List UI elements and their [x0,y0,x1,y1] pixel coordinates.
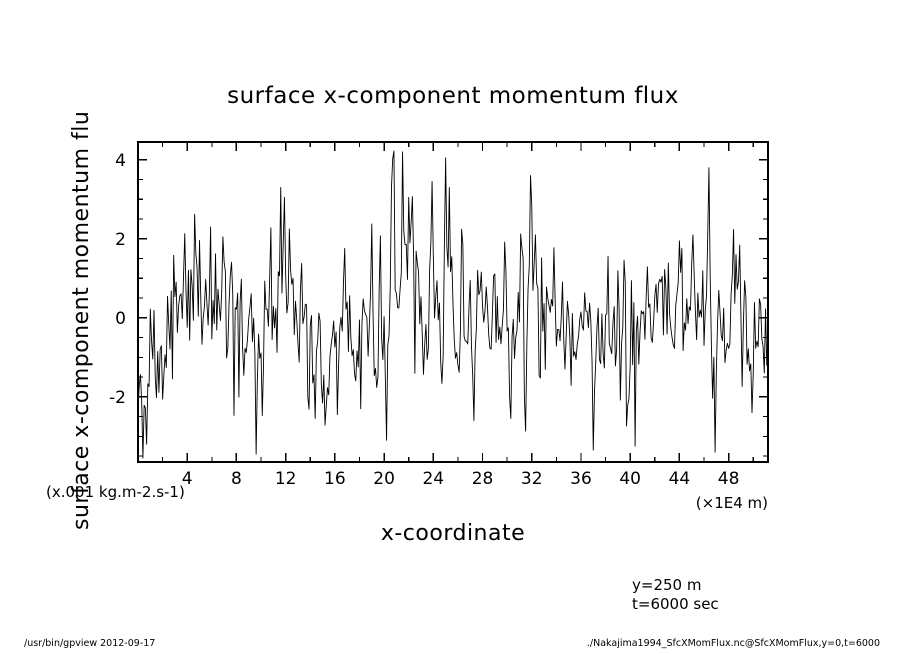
x-tick-label: 24 [422,469,444,489]
y-tick-label: 4 [115,151,126,171]
y-tick-label: -2 [109,388,126,408]
x-tick-label: 16 [324,469,346,489]
x-tick-label: 28 [472,469,494,489]
x-tick-label: 8 [231,469,242,489]
x-tick-label: 32 [521,469,543,489]
y-axis-title: surface x-component momentum flu [69,111,94,530]
x-tick-label: 20 [373,469,395,489]
x-tick-label: 44 [669,469,691,489]
x-tick-label: 12 [275,469,297,489]
annotation-t-value: t=6000 sec [632,595,719,613]
y-tick-label: 2 [115,230,126,250]
data-series-line [138,151,767,458]
chart-title: surface x-component momentum flux [227,83,679,109]
y-tick-label: 0 [115,309,126,329]
plot-canvas: 4812162024283236404448 420-2 surface x-c… [0,0,904,654]
x-tick-label: 40 [619,469,641,489]
x-tick-label: 48 [718,469,740,489]
x-axis-unit-label: (×1E4 m) [696,494,768,512]
y-axis-unit-label: (x.001 kg.m-2.s-1) [46,483,185,501]
chart-svg: 4812162024283236404448 420-2 surface x-c… [0,0,904,654]
footer-right-source: ./Nakajima1994_SfcXMomFlux.nc@SfcXMomFlu… [587,638,880,649]
x-tick-label: 36 [570,469,592,489]
x-axis-title: x-coordinate [381,521,525,546]
x-axis-tick-labels: 4812162024283236404448 [182,469,740,489]
annotation-y-value: y=250 m [632,576,701,594]
y-axis-tick-labels: 420-2 [109,151,126,408]
footer-left-command: /usr/bin/gpview 2012-09-17 [24,638,155,649]
